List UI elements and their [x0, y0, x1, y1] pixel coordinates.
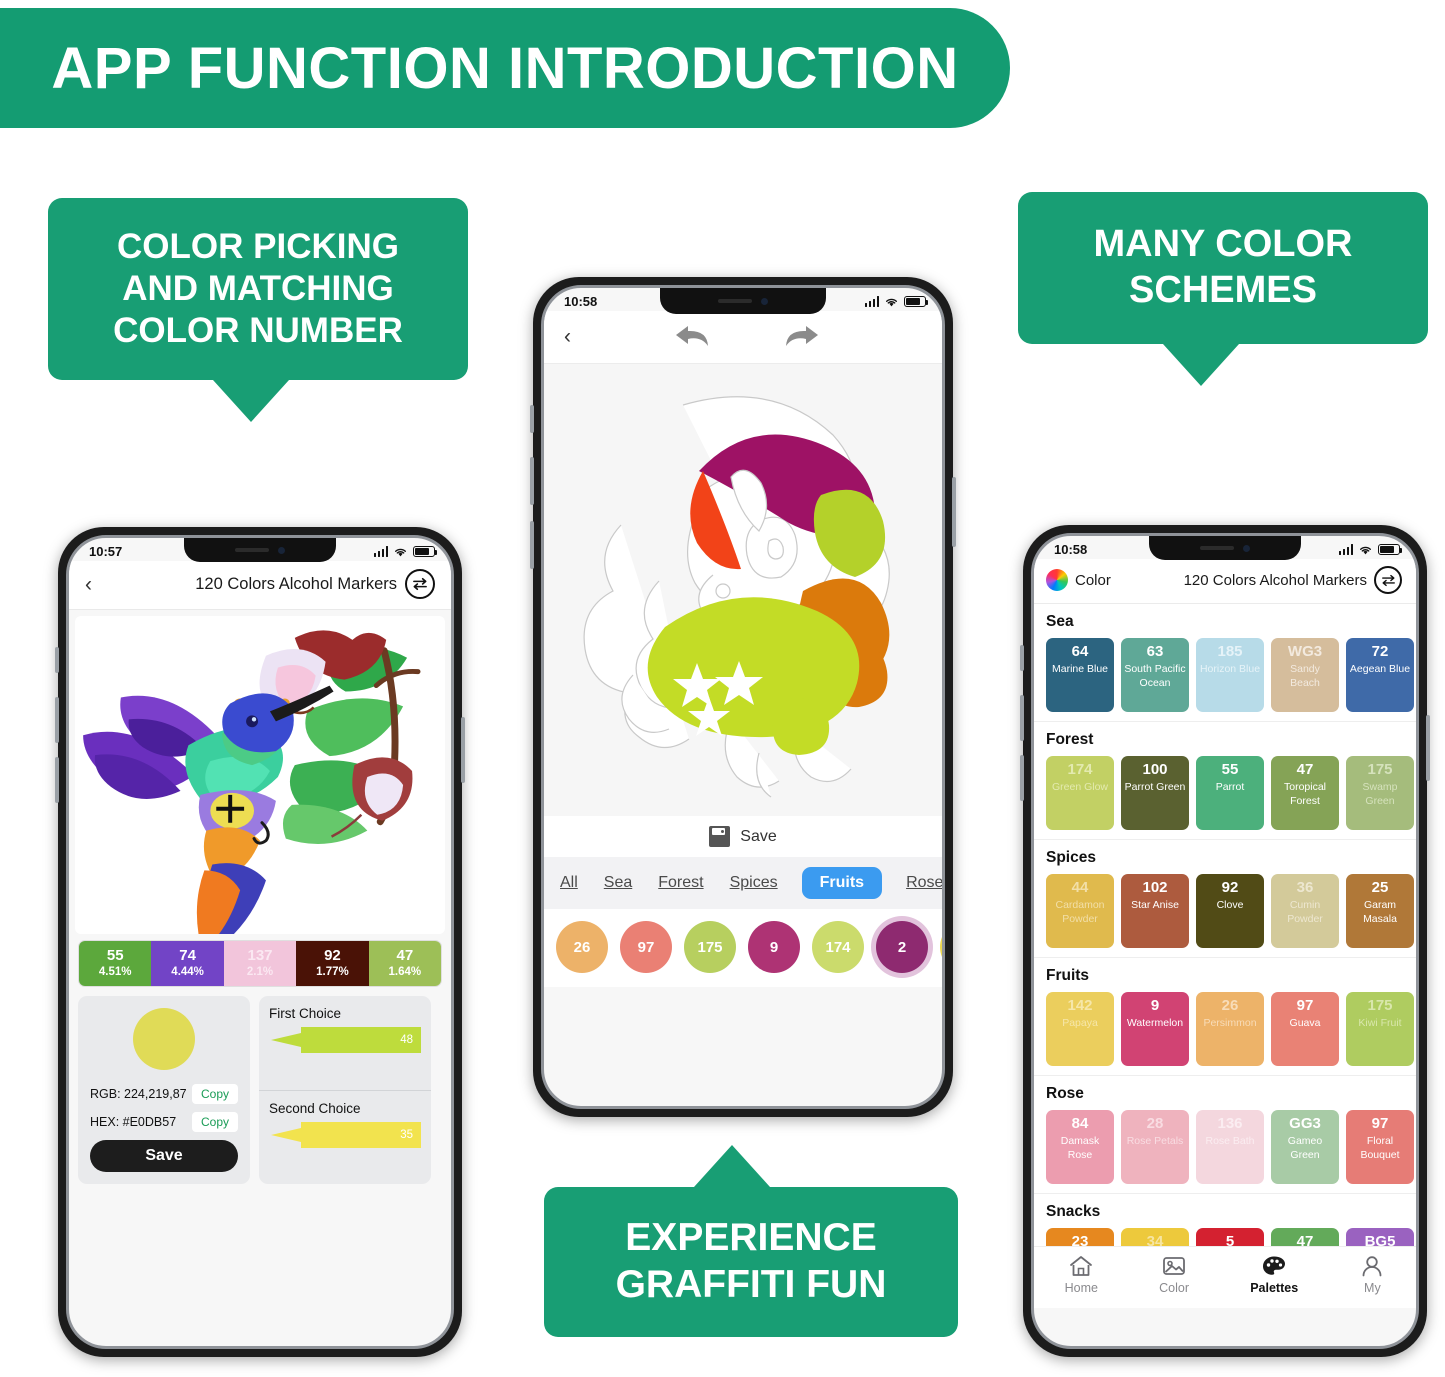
tile-number: BG5 — [1365, 1233, 1396, 1246]
swatch-percent: 2.1% — [224, 966, 296, 978]
tile-number: 23 — [1072, 1233, 1089, 1246]
wifi-icon — [393, 546, 408, 558]
section-title: Sea — [1046, 613, 1416, 631]
swatch-percent: 1.64% — [369, 966, 441, 978]
swatch-percent: 4.51% — [79, 966, 151, 978]
bottom-tab-bar[interactable]: Home Color Palettes — [1034, 1246, 1416, 1308]
tile-number: 185 — [1217, 643, 1242, 662]
callout-bubble: EXPERIENCE GRAFFITI FUN — [544, 1187, 958, 1337]
section-title: Snacks — [1046, 1203, 1416, 1221]
person-icon — [1359, 1254, 1385, 1278]
tile-number: 47 — [1297, 1233, 1314, 1246]
tile-number: 26 — [1222, 997, 1239, 1016]
back-chevron-icon[interactable]: ‹ — [564, 326, 571, 347]
tile-number: 44 — [1072, 879, 1089, 898]
color-tile[interactable]: 34 Smile Yellow — [1121, 1228, 1189, 1246]
tile-number: 174 — [1067, 761, 1092, 780]
status-indicators — [374, 546, 436, 558]
save-row[interactable]: Save — [544, 816, 942, 857]
callout-line-3: COLOR NUMBER — [113, 310, 403, 352]
color-tile[interactable]: 55 Parrot — [1196, 756, 1264, 830]
color-tile[interactable]: 102 Star Anise — [1121, 874, 1189, 948]
tile-number: WG3 — [1288, 643, 1322, 662]
tile-name: Aegean Blue — [1350, 663, 1410, 677]
color-tile[interactable]: 63 South Pacific Ocean — [1121, 638, 1189, 712]
tile-name: Guava — [1290, 1017, 1321, 1031]
phone-volume-down[interactable] — [55, 757, 59, 803]
tile-name: Gameo Green — [1274, 1135, 1336, 1163]
status-time: 10:58 — [1054, 542, 1087, 557]
color-circle-selected[interactable]: 2 — [876, 921, 928, 973]
tile-number: 175 — [1367, 761, 1392, 780]
swatch-number: 137 — [224, 947, 296, 964]
first-choice-number: 48 — [400, 1034, 413, 1046]
tab-sea[interactable]: Sea — [602, 869, 634, 897]
phone-screen: 10:58 ‹ — [541, 285, 945, 1109]
section-title: Spices — [1046, 849, 1416, 867]
color-tile[interactable]: 142 Papaya — [1046, 992, 1114, 1066]
phone-power-button[interactable] — [1426, 715, 1430, 781]
phone-middle: 10:58 ‹ — [533, 277, 953, 1117]
tab-rose[interactable]: Rose — [904, 869, 942, 897]
swatch-item: 55 4.51% — [79, 941, 151, 986]
section-spices: Spices 44 Cardamon Powder 102 Star Anise… — [1034, 840, 1416, 958]
color-tile[interactable]: 175 Swamp Green — [1346, 756, 1414, 830]
picked-color-dot — [133, 1008, 195, 1070]
status-indicators — [865, 296, 927, 308]
tile-number: 142 — [1067, 997, 1092, 1016]
tile-name: Parrot — [1216, 781, 1245, 795]
callout-line-1: EXPERIENCE — [625, 1215, 876, 1262]
swatch-number: 74 — [151, 947, 223, 964]
tab-home[interactable]: Home — [1065, 1254, 1098, 1295]
color-tile[interactable]: 47 Toropical Forest — [1271, 756, 1339, 830]
color-tile[interactable]: 72 Aegean Blue — [1346, 638, 1414, 712]
floppy-disk-icon — [709, 826, 730, 847]
tile-number: 25 — [1372, 879, 1389, 898]
tile-name: Cardamon Powder — [1049, 899, 1111, 927]
section-sea: Sea 64 Marine Blue 63 South Pacific Ocea… — [1034, 604, 1416, 722]
tile-name: Green Glow — [1052, 781, 1108, 795]
back-chevron-icon[interactable]: ‹ — [85, 574, 92, 595]
color-circles-row[interactable]: 26 97 175 9 174 2 35 — [544, 909, 942, 987]
tile-number: 97 — [1297, 997, 1314, 1016]
color-circle[interactable]: 35 — [940, 921, 942, 973]
status-bar: 10:58 — [1034, 536, 1416, 559]
section-fruits: Fruits 142 Papaya 9 Watermelon 26 Persim… — [1034, 958, 1416, 1076]
tile-name: Watermelon — [1127, 1017, 1183, 1031]
status-time: 10:58 — [564, 294, 597, 309]
color-wheel-label: Color — [1075, 572, 1111, 589]
callout-bubble: MANY COLOR SCHEMES — [1018, 192, 1428, 344]
artwork-canvas-unicorn[interactable] — [544, 364, 942, 816]
phone-right: 10:58 Color 120 Colors Alcohol Markers — [1023, 525, 1427, 1357]
header-banner: APP FUNCTION INTRODUCTION — [0, 8, 1010, 128]
color-tile[interactable]: 28 Rose Petals — [1121, 1110, 1189, 1184]
tile-number: 63 — [1147, 643, 1164, 662]
swap-arrows-icon[interactable] — [405, 569, 435, 599]
section-snacks: Snacks 23 Happy Orange 34 Smile Yellow 5… — [1034, 1194, 1416, 1246]
cellular-signal-icon — [374, 546, 389, 557]
tile-name: Sandy Beach — [1274, 663, 1336, 691]
section-title: Rose — [1046, 1085, 1416, 1103]
hummingbird-artwork — [75, 616, 445, 934]
color-tile[interactable]: 47 Peace Green — [1271, 1228, 1339, 1246]
tile-number: 28 — [1147, 1115, 1164, 1134]
tile-name: Cumin Powder — [1274, 899, 1336, 927]
swatch-number: 92 — [296, 947, 368, 964]
tile-name: Star Anise — [1131, 899, 1179, 913]
artwork-canvas-hummingbird[interactable] — [75, 616, 445, 934]
callout-line-2: AND MATCHING — [122, 268, 394, 310]
tile-name: Kiwi Fruit — [1358, 1017, 1401, 1031]
first-choice-label: First Choice — [269, 1006, 421, 1021]
tab-label: Palettes — [1250, 1281, 1298, 1295]
battery-icon — [1378, 544, 1400, 555]
tab-fruits[interactable]: Fruits — [802, 867, 882, 899]
color-tile[interactable]: 44 Cardamon Powder — [1046, 874, 1114, 948]
cellular-signal-icon — [1339, 544, 1354, 555]
undo-arrow-icon[interactable] — [673, 321, 713, 351]
tile-name: Swamp Green — [1349, 781, 1411, 809]
phone-volume-down[interactable] — [1020, 755, 1024, 801]
palette-icon — [1261, 1254, 1287, 1278]
swatch-number: 47 — [369, 947, 441, 964]
status-indicators — [1339, 544, 1401, 556]
callout-line-2: GRAFFITI FUN — [616, 1262, 887, 1309]
section-tiles: 174 Green Glow 100 Parrot Green 55 Parro… — [1046, 756, 1416, 830]
rgb-row: RGB: 224,219,87 Copy — [90, 1084, 238, 1104]
section-tiles: 23 Happy Orange 34 Smile Yellow 5 Cheerf… — [1046, 1228, 1416, 1246]
color-tile[interactable]: 5 Cheerful Red — [1196, 1228, 1264, 1246]
tab-label: Home — [1065, 1281, 1098, 1295]
status-time: 10:57 — [89, 544, 122, 559]
tile-number: 136 — [1217, 1115, 1242, 1134]
unicorn-artwork — [563, 375, 923, 805]
tile-number: 36 — [1297, 879, 1314, 898]
callout-many-color-schemes: MANY COLOR SCHEMES — [1018, 192, 1428, 386]
color-tile[interactable]: GG3 Gameo Green — [1271, 1110, 1339, 1184]
tab-color[interactable]: Color — [1159, 1254, 1189, 1295]
nav-bar: Color 120 Colors Alcohol Markers — [1034, 559, 1416, 604]
section-tiles: 142 Papaya 9 Watermelon 26 Persimmon 97 … — [1046, 992, 1416, 1066]
callout-tail — [1163, 344, 1239, 386]
hex-row: HEX: #E0DB57 Copy — [90, 1112, 238, 1132]
tile-name: Toropical Forest — [1274, 781, 1336, 809]
tile-number: 100 — [1142, 761, 1167, 780]
phone-volume-up[interactable] — [530, 457, 534, 505]
callout-line-1: COLOR PICKING — [117, 226, 399, 268]
color-tile[interactable]: 84 Damask Rose — [1046, 1110, 1114, 1184]
wifi-icon — [884, 296, 899, 308]
section-forest: Forest 174 Green Glow 100 Parrot Green 5… — [1034, 722, 1416, 840]
section-rose: Rose 84 Damask Rose 28 Rose Petals 136 R… — [1034, 1076, 1416, 1194]
undo-redo-group — [571, 321, 922, 351]
section-tiles: 84 Damask Rose 28 Rose Petals 136 Rose B… — [1046, 1110, 1416, 1184]
phone-volume-up[interactable] — [55, 697, 59, 743]
wifi-icon — [1358, 544, 1373, 556]
phone-mute-switch[interactable] — [530, 405, 534, 433]
phone-power-button[interactable] — [461, 717, 465, 783]
tile-name: Rose Bath — [1205, 1135, 1254, 1149]
tile-number: 72 — [1372, 643, 1389, 662]
section-tiles: 44 Cardamon Powder 102 Star Anise 92 Clo… — [1046, 874, 1416, 948]
nav-bar: ‹ — [544, 311, 942, 364]
color-circle[interactable]: 9 — [748, 921, 800, 973]
phone-screen: 10:58 Color 120 Colors Alcohol Markers — [1031, 533, 1419, 1349]
choices-panel: First Choice 48 Second Choice 35 — [259, 996, 431, 1184]
nav-title: 120 Colors Alcohol Markers — [1184, 572, 1367, 589]
phone-volume-down[interactable] — [530, 521, 534, 569]
tile-number: 92 — [1222, 879, 1239, 898]
tile-number: GG3 — [1289, 1115, 1321, 1134]
color-tile[interactable]: 23 Happy Orange — [1046, 1228, 1114, 1246]
rgb-value: RGB: 224,219,87 — [90, 1087, 187, 1101]
first-choice-box[interactable]: First Choice 48 — [259, 996, 431, 1090]
tile-name: Horizon Blue — [1200, 663, 1260, 677]
color-circle[interactable]: 26 — [556, 921, 608, 973]
tile-name: Garam Masala — [1349, 899, 1411, 927]
color-circle[interactable]: 174 — [812, 921, 864, 973]
color-detail-area: RGB: 224,219,87 Copy HEX: #E0DB57 Copy S… — [78, 996, 442, 1184]
tile-number: 102 — [1142, 879, 1167, 898]
tile-name: South Pacific Ocean — [1124, 663, 1186, 691]
nav-title: 120 Colors Alcohol Markers — [195, 575, 397, 594]
color-tile[interactable]: 175 Kiwi Fruit — [1346, 992, 1414, 1066]
status-bar: 10:57 — [69, 538, 451, 561]
color-tile[interactable]: 136 Rose Bath — [1196, 1110, 1264, 1184]
color-tile[interactable]: 185 Horizon Blue — [1196, 638, 1264, 712]
second-choice-label: Second Choice — [269, 1101, 421, 1116]
battery-icon — [904, 296, 926, 307]
swatch-percent: 1.77% — [296, 966, 368, 978]
color-tile[interactable]: 97 Guava — [1271, 992, 1339, 1066]
color-tile[interactable]: 92 Clove — [1196, 874, 1264, 948]
image-icon — [1161, 1254, 1187, 1278]
callout-bubble: COLOR PICKING AND MATCHING COLOR NUMBER — [48, 198, 468, 380]
tab-my[interactable]: My — [1359, 1254, 1385, 1295]
color-tile[interactable]: WG3 Sandy Beach — [1271, 638, 1339, 712]
status-bar: 10:58 — [544, 288, 942, 311]
swatch-percent: 4.44% — [151, 966, 223, 978]
tab-label: Color — [1159, 1281, 1189, 1295]
tile-number: 84 — [1072, 1115, 1089, 1134]
swatch-number: 55 — [79, 947, 151, 964]
tile-number: 175 — [1367, 997, 1392, 1016]
tab-forest[interactable]: Forest — [656, 869, 705, 897]
tile-name: Damask Rose — [1049, 1135, 1111, 1163]
color-tile[interactable]: 174 Green Glow — [1046, 756, 1114, 830]
color-tile[interactable]: 97 Floral Bouquet — [1346, 1110, 1414, 1184]
tile-number: 9 — [1151, 997, 1159, 1016]
copy-hex-button[interactable]: Copy — [192, 1112, 238, 1132]
tab-label: My — [1364, 1281, 1381, 1295]
phone-mute-switch[interactable] — [1020, 645, 1024, 671]
color-wheel-icon[interactable] — [1046, 569, 1068, 591]
phone-screen: 10:57 ‹ 120 Colors Alcohol Markers — [66, 535, 454, 1349]
save-label: Save — [740, 828, 776, 846]
save-button[interactable]: Save — [90, 1140, 238, 1172]
callout-graffiti-fun: EXPERIENCE GRAFFITI FUN — [544, 1145, 958, 1337]
tile-name: Papaya — [1062, 1017, 1098, 1031]
callout-color-picking: COLOR PICKING AND MATCHING COLOR NUMBER — [48, 198, 468, 422]
hex-value: HEX: #E0DB57 — [90, 1115, 176, 1129]
color-tile[interactable]: 36 Cumin Powder — [1271, 874, 1339, 948]
tile-name: Floral Bouquet — [1349, 1135, 1411, 1163]
callout-tail — [694, 1145, 770, 1187]
tab-spices[interactable]: Spices — [728, 869, 780, 897]
callout-tail — [213, 380, 289, 422]
tile-name: Marine Blue — [1052, 663, 1108, 677]
tile-number: 5 — [1226, 1233, 1234, 1246]
swatch-item: 74 4.44% — [151, 941, 223, 986]
color-percentage-bar: 55 4.51% 74 4.44% 137 2.1% 92 1.77% 47 1… — [78, 940, 442, 987]
swap-arrows-icon[interactable] — [1374, 566, 1402, 594]
color-circle[interactable]: 175 — [684, 921, 736, 973]
color-tile[interactable]: 100 Parrot Green — [1121, 756, 1189, 830]
tile-number: 64 — [1072, 643, 1089, 662]
tile-number: 55 — [1222, 761, 1239, 780]
tile-name: Clove — [1217, 899, 1244, 913]
color-tile[interactable]: 26 Persimmon — [1196, 992, 1264, 1066]
swatch-item: 137 2.1% — [224, 941, 296, 986]
phone-mute-switch[interactable] — [55, 647, 59, 673]
redo-arrow-icon[interactable] — [781, 321, 821, 351]
color-tile[interactable]: 9 Watermelon — [1121, 992, 1189, 1066]
tab-palettes[interactable]: Palettes — [1250, 1254, 1298, 1295]
tile-name: Rose Petals — [1127, 1135, 1184, 1149]
tile-name: Persimmon — [1203, 1017, 1256, 1031]
phone-volume-up[interactable] — [1020, 695, 1024, 741]
section-title: Forest — [1046, 731, 1416, 749]
picked-color-panel: RGB: 224,219,87 Copy HEX: #E0DB57 Copy S… — [78, 996, 250, 1184]
home-icon — [1068, 1254, 1094, 1278]
cellular-signal-icon — [865, 296, 880, 307]
battery-icon — [413, 546, 435, 557]
color-circle[interactable]: 97 — [620, 921, 672, 973]
palette-sections[interactable]: Sea 64 Marine Blue 63 South Pacific Ocea… — [1034, 604, 1416, 1246]
swatch-item: 47 1.64% — [369, 941, 441, 986]
section-title: Fruits — [1046, 967, 1416, 985]
tile-number: 97 — [1372, 1115, 1389, 1134]
tile-number: 47 — [1297, 761, 1314, 780]
phone-power-button[interactable] — [952, 477, 956, 547]
callout-line-1: MANY COLOR — [1094, 222, 1353, 268]
color-tile[interactable]: BG5 Bright Purple — [1346, 1228, 1414, 1246]
second-choice-box[interactable]: Second Choice 35 — [259, 1090, 431, 1185]
copy-rgb-button[interactable]: Copy — [192, 1084, 238, 1104]
second-choice-number: 35 — [400, 1129, 413, 1141]
color-tile[interactable]: 25 Garam Masala — [1346, 874, 1414, 948]
phone-left: 10:57 ‹ 120 Colors Alcohol Markers — [58, 527, 462, 1357]
tab-all[interactable]: All — [558, 869, 580, 897]
nav-bar: ‹ 120 Colors Alcohol Markers — [69, 561, 451, 610]
callout-line-2: SCHEMES — [1129, 268, 1317, 314]
color-tile[interactable]: 64 Marine Blue — [1046, 638, 1114, 712]
palette-category-tabs[interactable]: All Sea Forest Spices Fruits Rose S — [544, 857, 942, 909]
section-tiles: 64 Marine Blue 63 South Pacific Ocean 18… — [1046, 638, 1416, 712]
page-title: APP FUNCTION INTRODUCTION — [51, 35, 958, 102]
swatch-item: 92 1.77% — [296, 941, 368, 986]
tile-name: Parrot Green — [1125, 781, 1186, 795]
tile-number: 34 — [1147, 1233, 1164, 1246]
